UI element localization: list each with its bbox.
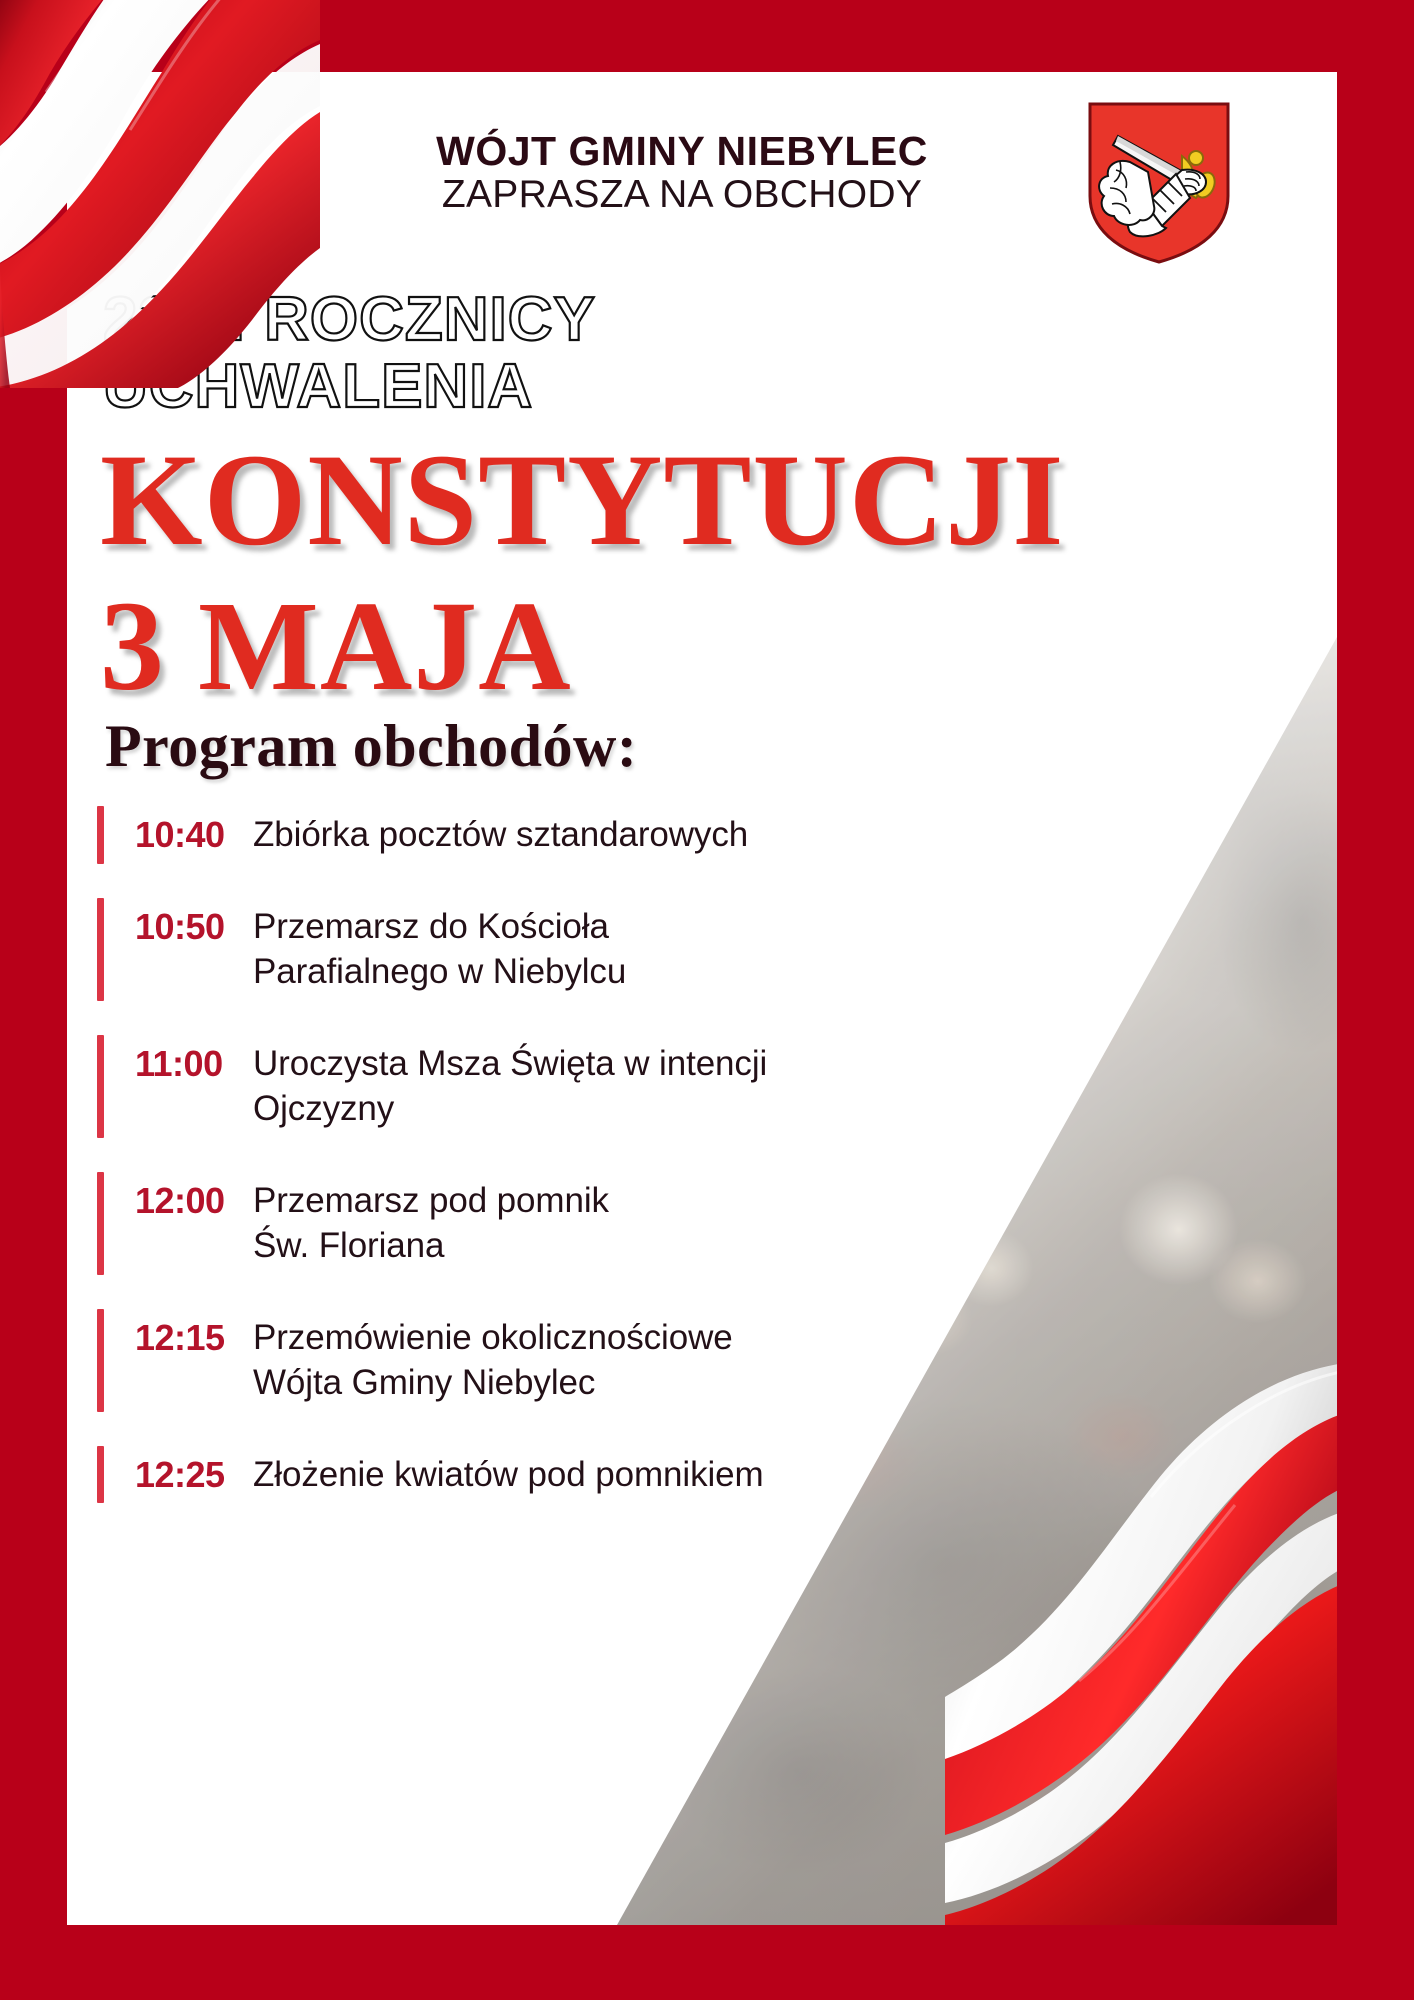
schedule-item-description-line: Parafialnego w Niebylcu <box>253 949 917 995</box>
schedule-item-time: 10:50 <box>135 904 253 948</box>
schedule-item-description-line: Przemówienie okolicznościowe <box>253 1315 917 1361</box>
header-line-1: WÓJT GMINY NIEBYLEC <box>436 130 928 173</box>
schedule-item-description-line: Zbiórka pocztów sztandarowych <box>253 812 917 858</box>
schedule-item: 10:50Przemarsz do KościołaParafialnego w… <box>97 904 917 995</box>
schedule-item-time: 11:00 <box>135 1041 253 1085</box>
schedule-item: 10:40Zbiórka pocztów sztandarowych <box>97 812 917 858</box>
schedule-item-description: Uroczysta Msza Święta w intencjiOjczyzny <box>253 1041 917 1132</box>
schedule-accent-bar <box>97 806 104 864</box>
schedule-item-description: Przemówienie okolicznościoweWójta Gminy … <box>253 1315 917 1406</box>
schedule-item: 12:25Złożenie kwiatów pod pomnikiem <box>97 1452 917 1498</box>
poster-main-title: KONSTYTUCJI 3 MAJA <box>100 434 1065 710</box>
schedule-item-description-line: Wójta Gminy Niebylec <box>253 1360 917 1406</box>
schedule-item-description: Przemarsz pod pomnikŚw. Floriana <box>253 1178 917 1269</box>
schedule-item-time: 10:40 <box>135 812 253 856</box>
schedule-item-time: 12:00 <box>135 1178 253 1222</box>
schedule-item-description-line: Św. Floriana <box>253 1223 917 1269</box>
schedule-item-description: Przemarsz do KościołaParafialnego w Nieb… <box>253 904 917 995</box>
header-text-block: WÓJT GMINY NIEBYLEC ZAPRASZA NA OBCHODY <box>436 130 928 216</box>
header-line-2: ZAPRASZA NA OBCHODY <box>436 173 928 217</box>
coat-of-arms-icon <box>1086 100 1232 266</box>
schedule-item-description-line: Przemarsz pod pomnik <box>253 1178 917 1224</box>
program-heading: Program obchodów: <box>105 712 637 781</box>
schedule-item-description-line: Ojczyzny <box>253 1086 917 1132</box>
schedule-accent-bar <box>97 1172 104 1275</box>
schedule-accent-bar <box>97 1309 104 1412</box>
schedule-item-description-line: Przemarsz do Kościoła <box>253 904 917 950</box>
schedule-item-time: 12:15 <box>135 1315 253 1359</box>
schedule-accent-bar <box>97 1035 104 1138</box>
program-schedule-list: 10:40Zbiórka pocztów sztandarowych10:50P… <box>97 812 917 1497</box>
schedule-item-description: Zbiórka pocztów sztandarowych <box>253 812 917 858</box>
ribbon-top-left <box>0 0 320 388</box>
schedule-accent-bar <box>97 1446 104 1504</box>
schedule-item: 11:00Uroczysta Msza Święta w intencjiOjc… <box>97 1041 917 1132</box>
schedule-item-description-line: Uroczysta Msza Święta w intencji <box>253 1041 917 1087</box>
schedule-item-description-line: Złożenie kwiatów pod pomnikiem <box>253 1452 917 1498</box>
title-line-2: 3 MAJA <box>100 582 1065 710</box>
schedule-item-time: 12:25 <box>135 1452 253 1496</box>
schedule-item-description: Złożenie kwiatów pod pomnikiem <box>253 1452 917 1498</box>
poster-root: WÓJT GMINY NIEBYLEC ZAPRASZA NA OBCHODY <box>0 0 1414 2000</box>
schedule-accent-bar <box>97 898 104 1001</box>
schedule-item: 12:00Przemarsz pod pomnikŚw. Floriana <box>97 1178 917 1269</box>
title-line-1: KONSTYTUCJI <box>100 434 1065 566</box>
ribbon-bottom-right <box>945 1315 1337 1925</box>
schedule-item: 12:15Przemówienie okolicznościoweWójta G… <box>97 1315 917 1406</box>
